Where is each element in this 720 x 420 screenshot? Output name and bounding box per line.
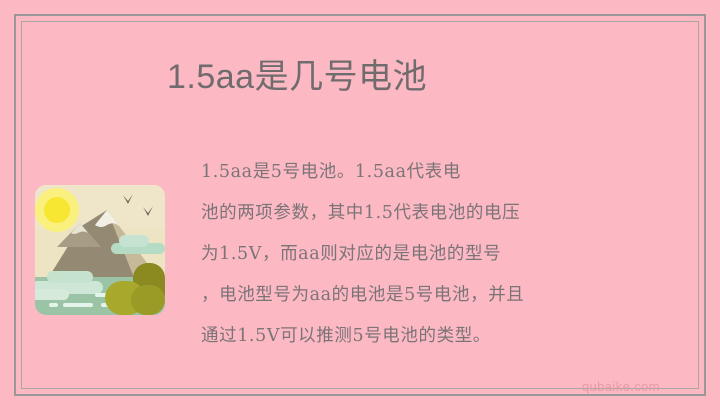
watermark: qubaike.com: [582, 379, 660, 394]
article-body: 1.5aa是5号电池。1.5aa代表电 池的两项参数，其中1.5代表电池的电压 …: [201, 152, 631, 357]
article-line: 1.5aa是5号电池。1.5aa代表电: [201, 152, 631, 193]
page-title: 1.5aa是几号电池: [167, 55, 427, 99]
sun-icon: [44, 197, 70, 223]
article-line: 为1.5V，而aa则对应的是电池的型号: [201, 234, 631, 275]
bush-icon: [131, 285, 165, 315]
landscape-illustration-svg: [35, 185, 165, 315]
landscape-illustration: [35, 185, 165, 315]
article-line: 池的两项参数，其中1.5代表电池的电压: [201, 193, 631, 234]
article-line: ，电池型号为aa的电池是5号电池，并且: [201, 275, 631, 316]
water-dash: [63, 303, 93, 307]
water-dash: [49, 303, 58, 307]
article-line: 通过1.5V可以推测5号电池的类型。: [201, 316, 631, 357]
